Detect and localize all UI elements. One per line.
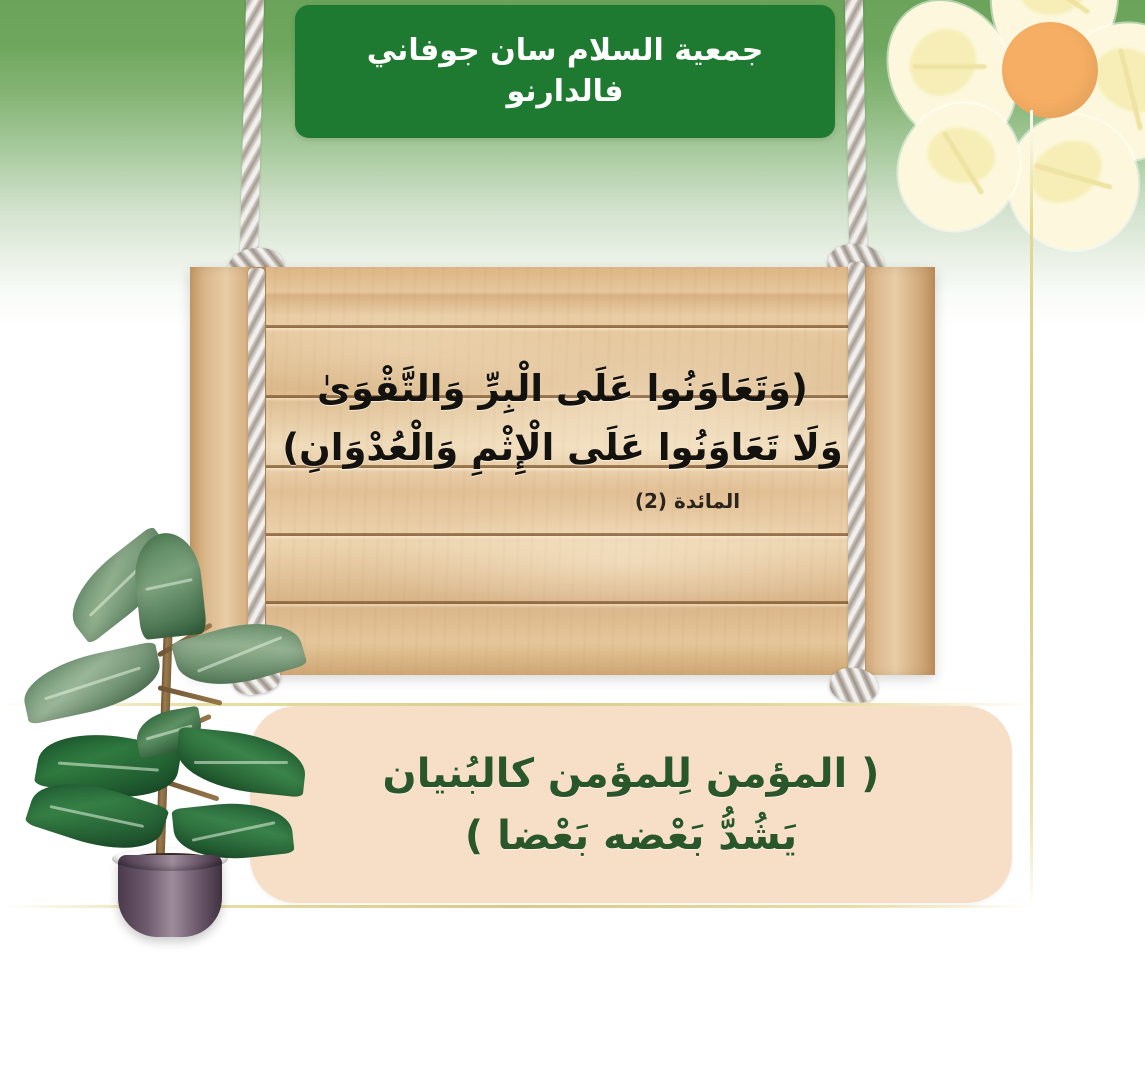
verse-reference: المائدة (2) — [635, 489, 740, 513]
hadith-line-2: يَشُدُّ بَعْضه بَعْضا ) — [465, 805, 797, 867]
daisy-flower-decoration — [880, 0, 1145, 260]
rope-right-lower-icon — [848, 262, 865, 692]
gold-divider-right — [1030, 110, 1033, 906]
flower-center-icon — [1002, 22, 1098, 118]
plant-leaf — [18, 641, 167, 725]
banner-line-2: فالدارنو — [506, 72, 623, 113]
verse-line-2: وَلَا تَعَاوَنُوا عَلَى الْإِثْمِ وَالْع… — [282, 418, 842, 477]
hadith-quote-box: ( المؤمن لِلمؤمن كالبُنيان يَشُدُّ بَعْض… — [250, 706, 1012, 903]
organization-name-banner: جمعية السلام سان جوفاني فالدارنو — [295, 5, 835, 138]
verse-line-1: (وَتَعَاوَنُوا عَلَى الْبِرِّ وَالتَّقْو… — [317, 359, 808, 418]
plant-leaf — [173, 726, 308, 797]
banner-line-1: جمعية السلام سان جوفاني — [367, 31, 764, 72]
potted-rubber-plant — [8, 525, 308, 945]
hadith-line-1: ( المؤمن لِلمؤمن كالبُنيان — [383, 743, 880, 805]
plant-pot-rim — [112, 847, 228, 871]
flower-petal-icon — [875, 81, 1042, 253]
plant-leaf — [131, 530, 208, 640]
poster-canvas: جمعية السلام سان جوفاني فالدارنو (وَتَعَ… — [0, 0, 1145, 1080]
